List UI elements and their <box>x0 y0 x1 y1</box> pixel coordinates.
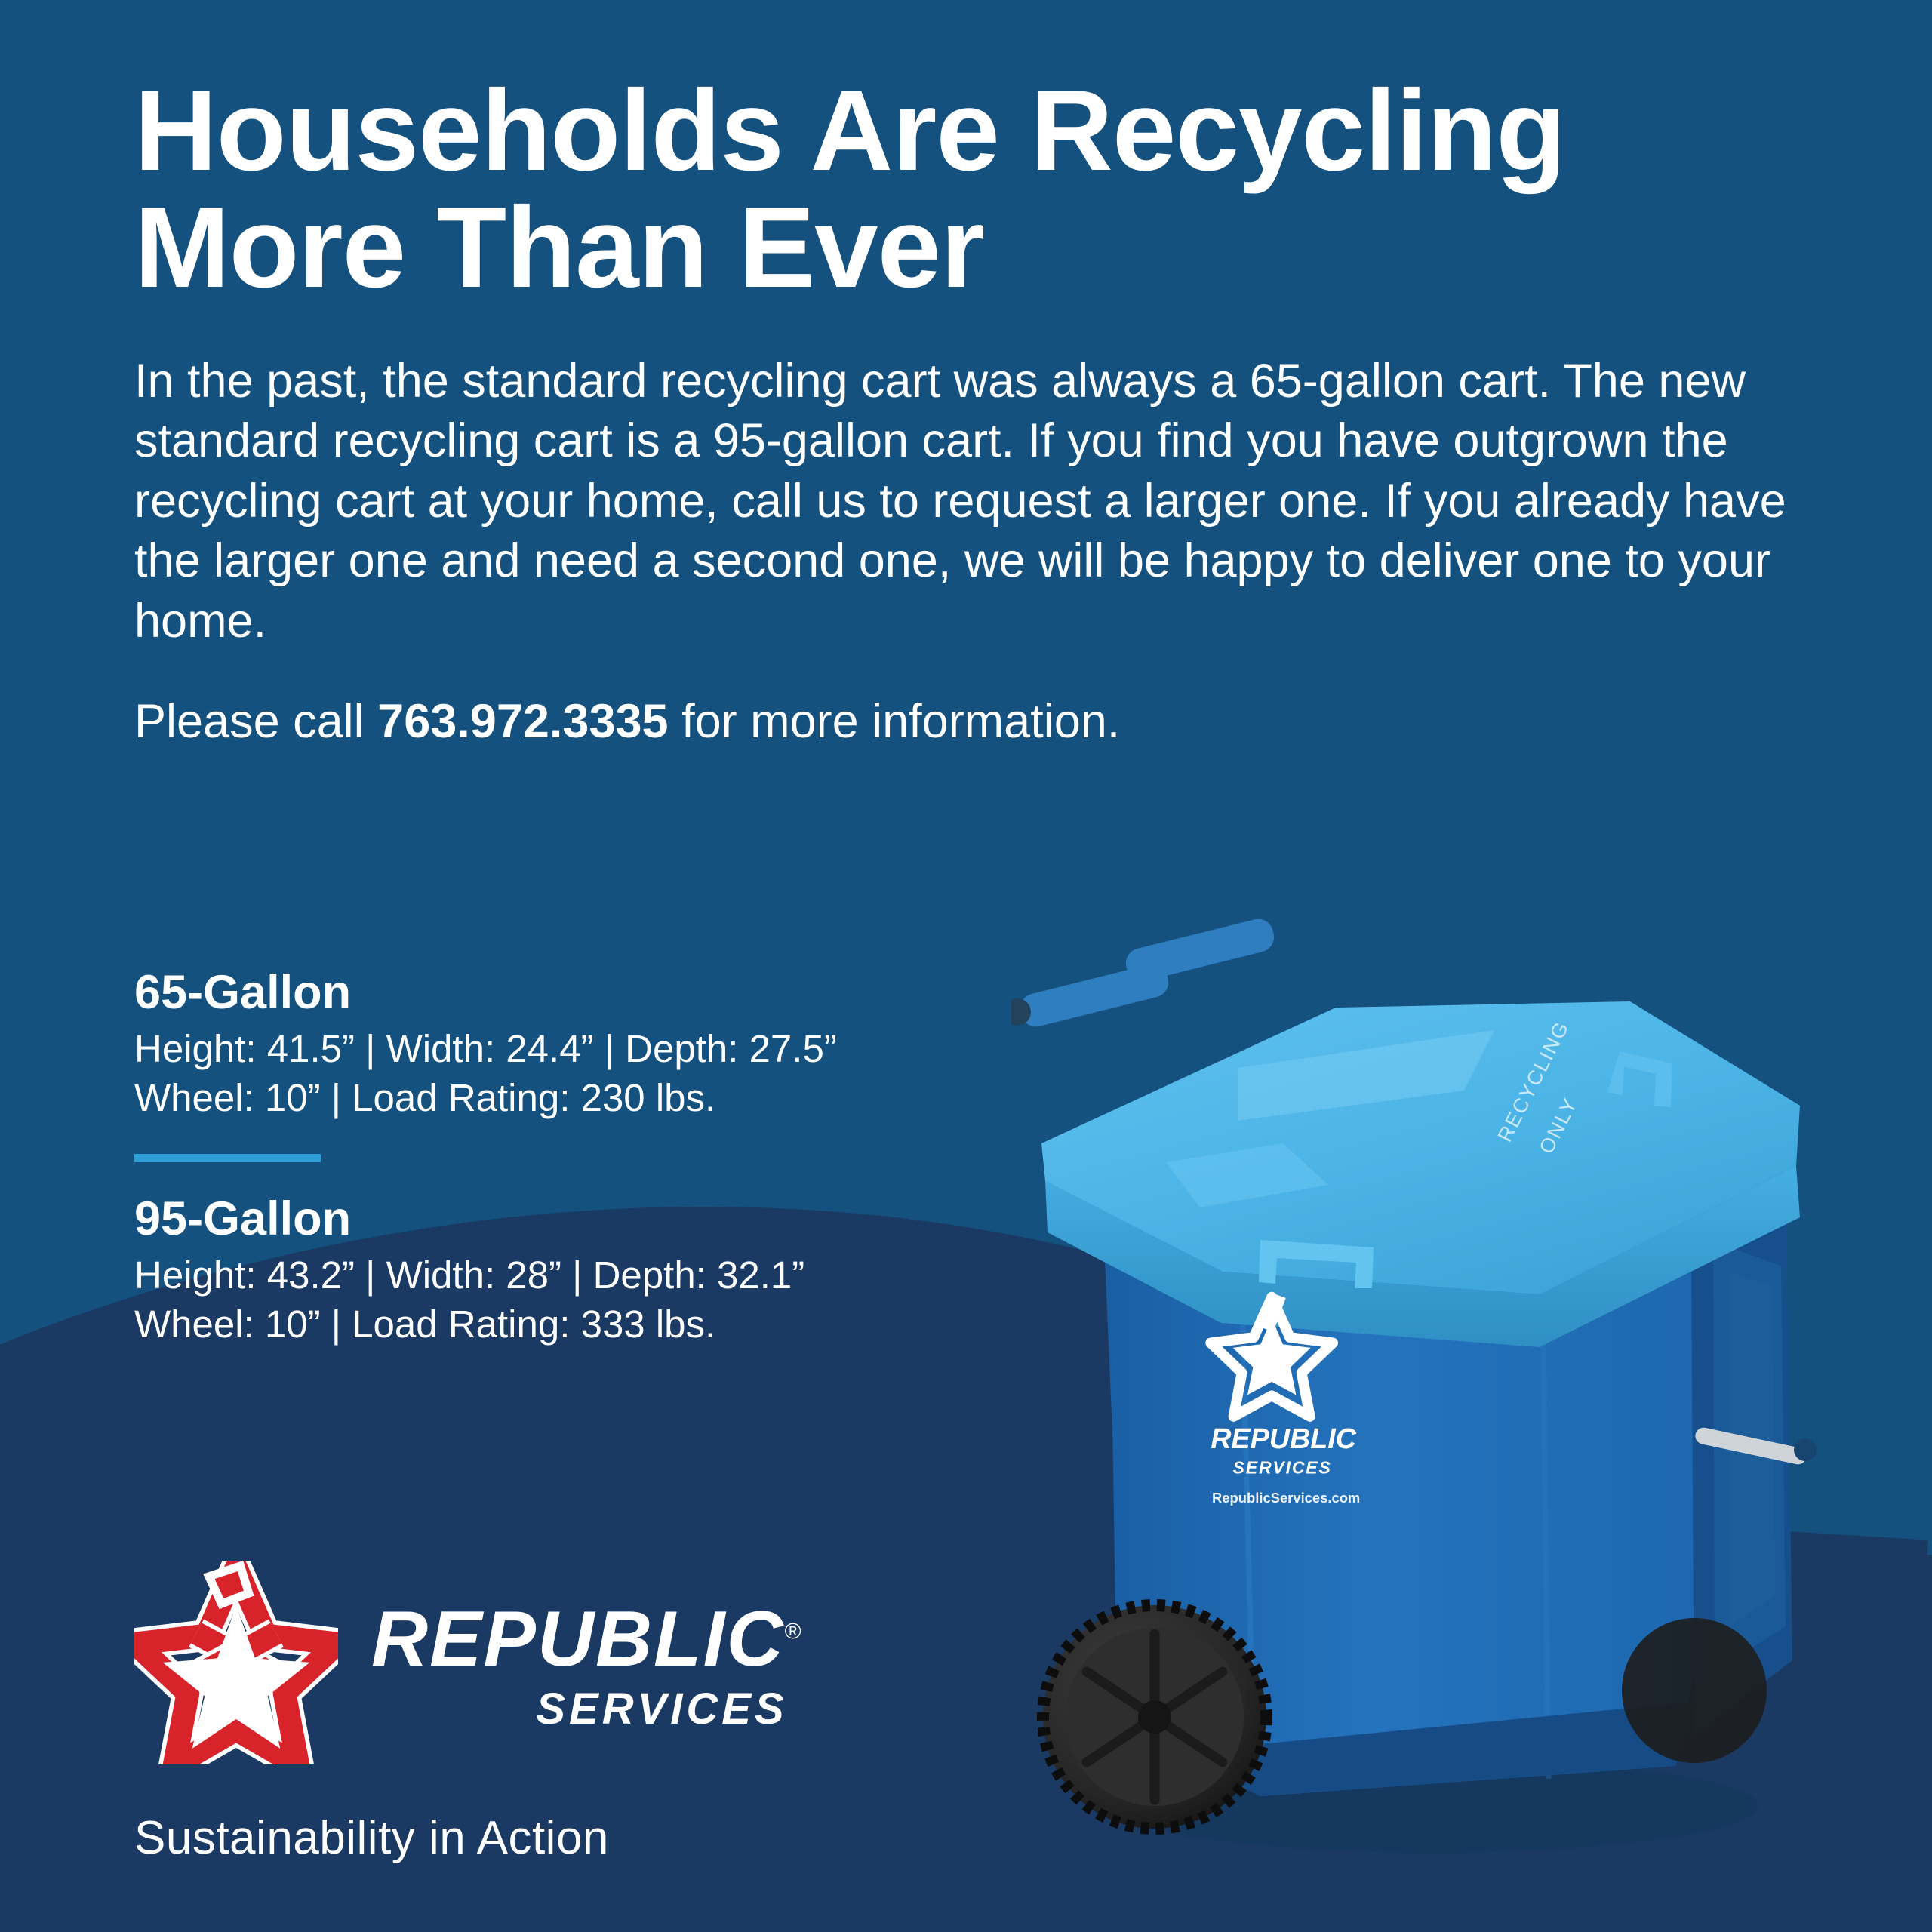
tagline: Sustainability in Action <box>134 1811 609 1865</box>
spec-wheel-load-95: Wheel: 10” | Load Rating: 333 lbs. <box>134 1300 1115 1349</box>
poster-canvas: RECYCLING ONLY REPUBLIC SERVICES Republi… <box>0 0 1932 1932</box>
cart-specifications: 65-Gallon Height: 41.5” | Width: 24.4” |… <box>134 966 1115 1349</box>
spec-dimensions-95: Height: 43.2” | Width: 28” | Depth: 32.1… <box>134 1251 1115 1300</box>
spec-wheel-load-65: Wheel: 10” | Load Rating: 230 lbs. <box>134 1073 1115 1122</box>
call-to-action-line: Please call 763.972.3335 for more inform… <box>134 651 1870 752</box>
logo-brand-label: REPUBLIC <box>371 1595 785 1683</box>
logo-wordmark: REPUBLIC® SERVICES <box>371 1594 801 1731</box>
logo-brand-text: REPUBLIC® <box>371 1600 801 1678</box>
spec-divider <box>134 1154 321 1162</box>
page-title-line-2: More Than Ever <box>134 189 1863 306</box>
spec-block-95-gallon: 95-Gallon Height: 43.2” | Width: 28” | D… <box>134 1192 1115 1349</box>
spec-block-65-gallon: 65-Gallon Height: 41.5” | Width: 24.4” |… <box>134 966 1115 1122</box>
republic-star-icon <box>134 1561 338 1764</box>
call-suffix: for more information. <box>669 695 1121 748</box>
body-paragraph: In the past, the standard recycling cart… <box>134 306 1863 651</box>
republic-services-logo: REPUBLIC® SERVICES <box>134 1561 801 1764</box>
call-prefix: Please call <box>134 695 377 748</box>
registered-trademark-icon: ® <box>785 1619 801 1644</box>
spec-dimensions-65: Height: 41.5” | Width: 24.4” | Depth: 27… <box>134 1024 1115 1073</box>
spec-title-65: 65-Gallon <box>134 966 1115 1020</box>
page-title-line-1: Households Are Recycling <box>134 66 1565 195</box>
page-title: Households Are Recycling More Than Ever <box>134 0 1863 306</box>
spec-title-95: 95-Gallon <box>134 1192 1115 1246</box>
logo-sub-text: SERVICES <box>536 1687 801 1731</box>
phone-number[interactable]: 763.972.3335 <box>377 695 668 748</box>
content-column: Households Are Recycling More Than Ever … <box>134 0 1870 1932</box>
